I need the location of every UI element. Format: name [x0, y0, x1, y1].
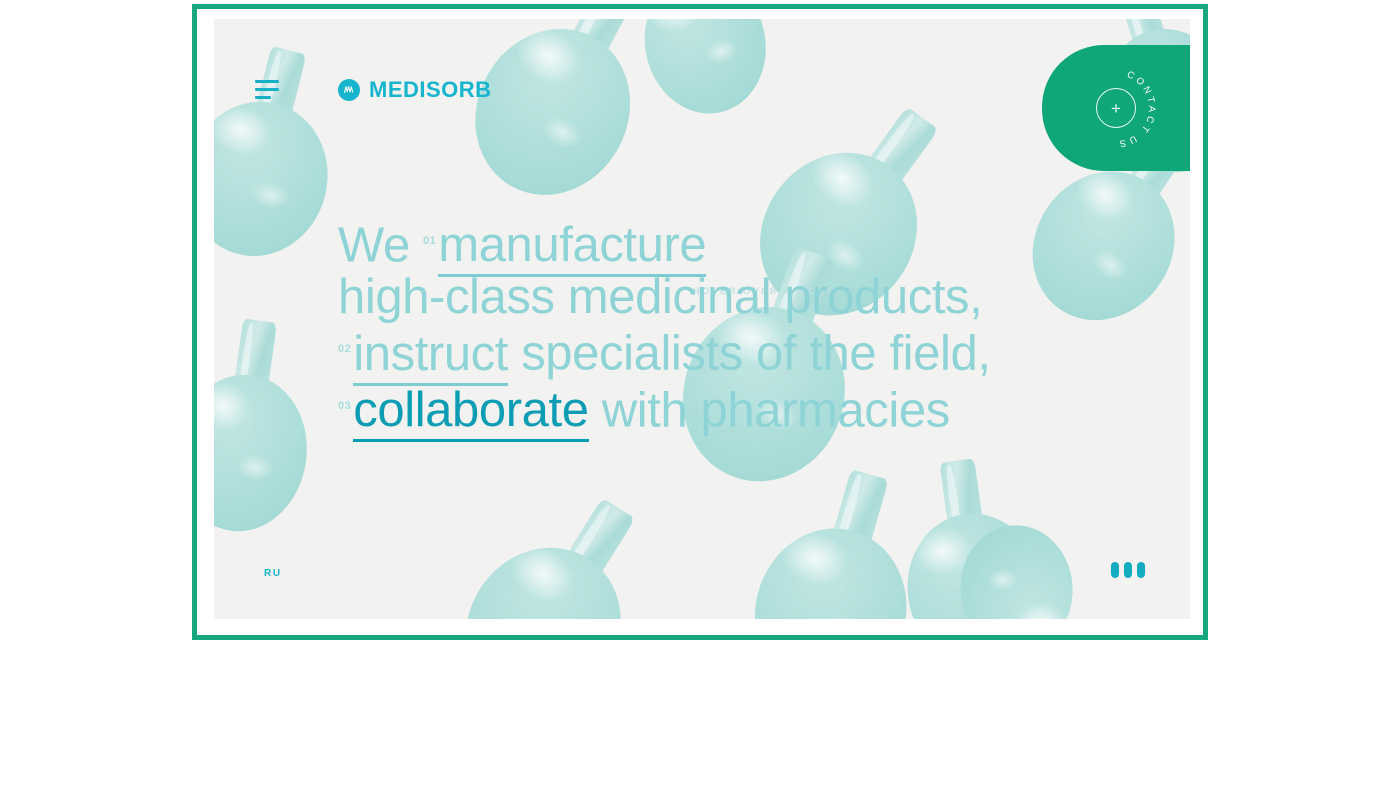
slide-dot[interactable]: [1124, 562, 1132, 578]
page-viewport: MEDISORB CONTACT US + We 01manufacture H…: [214, 19, 1190, 619]
site-header: MEDISORB CONTACT US +: [214, 19, 1190, 149]
language-switch-ru[interactable]: RU: [264, 568, 282, 579]
flask-bulb: [956, 522, 1077, 619]
slide-dot[interactable]: [1111, 562, 1119, 578]
slide-indicator-dots: [1111, 562, 1145, 578]
hero-line: 03collaborate with pharmacies: [338, 380, 1168, 436]
brand-logo[interactable]: MEDISORB: [338, 77, 492, 103]
round-bottom-flask-icon: [956, 522, 1080, 619]
browser-frame: MEDISORB CONTACT US + We 01manufacture H…: [192, 4, 1208, 640]
hero-text: specialists of the field,: [508, 327, 991, 381]
menu-bar-1: [255, 80, 279, 83]
plus-icon[interactable]: +: [1096, 88, 1136, 128]
flask-bulb: [214, 366, 317, 539]
round-bottom-flask-icon: [435, 468, 682, 619]
hero-text: with pharmacies: [589, 383, 950, 437]
hot-word-manufacture[interactable]: manufacture: [438, 218, 706, 277]
menu-bar-2: [255, 88, 279, 91]
hot-word-collaborate[interactable]: collaborate: [353, 383, 588, 442]
hot-word-instruct[interactable]: instruct: [353, 327, 508, 386]
hero-line: We 01manufacture HOVER OVER A WORD: [338, 215, 1168, 271]
wave-circle-icon: [338, 79, 360, 101]
slide-dot[interactable]: [1137, 562, 1145, 578]
brand-name: MEDISORB: [369, 77, 492, 103]
hamburger-menu-icon[interactable]: [255, 74, 289, 104]
hero-line: 02instruct specialists of the field,: [338, 323, 1168, 379]
hero-text: high-class medicinal products,: [338, 270, 982, 324]
hero-text: We: [338, 218, 423, 272]
contact-us-button[interactable]: CONTACT US +: [1042, 45, 1190, 171]
round-bottom-flask-icon: [214, 312, 324, 540]
menu-bar-3: [255, 96, 271, 99]
word-number: 01: [423, 235, 436, 247]
hero-line: high-class medicinal products,: [338, 271, 1168, 323]
hero-headline: We 01manufacture HOVER OVER A WORD high-…: [338, 215, 1168, 436]
word-number: 03: [338, 400, 351, 412]
word-number: 02: [338, 343, 351, 355]
